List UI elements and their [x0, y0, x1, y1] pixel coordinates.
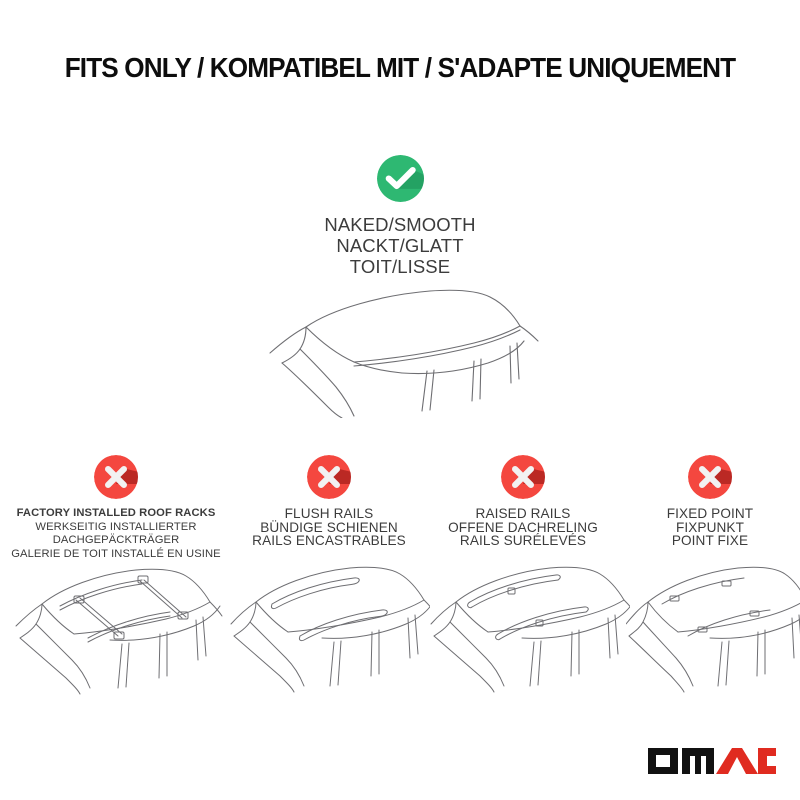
incompatible-item-factory-roof-racks: FACTORY INSTALLED ROOF RACKS WERKSEITIG … [0, 455, 232, 561]
incompatible-label-line-3: RAILS SURÉLEVÉS [426, 534, 620, 548]
logo-letter-a [716, 748, 758, 774]
compatible-label-line-1: NAKED/SMOOTH [0, 214, 800, 235]
incompatible-label: FIXED POINT FIXPUNKT POINT FIXE [620, 507, 800, 548]
incompatible-label-line-2: OFFENE DACHRELING [426, 521, 620, 535]
incompatible-label: FLUSH RAILS BÜNDIGE SCHIENEN RAILS ENCAS… [232, 507, 426, 548]
incompatible-label-line-3: DACHGEPÄCKTRÄGER [0, 534, 232, 548]
flush-rails-icon [230, 548, 430, 698]
red-x-circle-icon [688, 455, 732, 499]
naked-smooth-roof-icon [262, 283, 562, 418]
incompatible-item-raised-rails: RAISED RAILS OFFENE DACHRELING RAILS SUR… [426, 455, 620, 561]
incompatible-label-line-2: FIXPUNKT [620, 521, 800, 535]
compatible-label-line-3: TOIT/LISSE [0, 256, 800, 277]
factory-roof-rack-icon [14, 548, 224, 698]
incompatible-label-line-1: FACTORY INSTALLED ROOF RACKS [0, 507, 232, 521]
incompatible-item-fixed-point: FIXED POINT FIXPUNKT POINT FIXE [620, 455, 800, 561]
compatible-label: NAKED/SMOOTH NACKT/GLATT TOIT/LISSE [0, 214, 800, 277]
page-title: FITS ONLY / KOMPATIBEL MIT / S'ADAPTE UN… [20, 52, 780, 84]
logo-letter-c [758, 748, 776, 774]
incompatible-label-line-1: RAISED RAILS [426, 507, 620, 521]
incompatible-label: RAISED RAILS OFFENE DACHRELING RAILS SUR… [426, 507, 620, 548]
incompatible-label-line-1: FIXED POINT [620, 507, 800, 521]
logo-letter-o [648, 748, 678, 774]
green-check-circle-icon [377, 155, 424, 202]
incompatible-label-line-1: FLUSH RAILS [232, 507, 426, 521]
raised-rails-icon [430, 548, 630, 698]
logo-letter-m [682, 748, 714, 774]
incompatible-item-flush-rails: FLUSH RAILS BÜNDIGE SCHIENEN RAILS ENCAS… [232, 455, 426, 561]
compatible-section: NAKED/SMOOTH NACKT/GLATT TOIT/LISSE [0, 155, 800, 277]
incompatible-label-line-2: BÜNDIGE SCHIENEN [232, 521, 426, 535]
incompatible-illustrations [0, 548, 800, 698]
red-x-circle-icon [307, 455, 351, 499]
fixed-point-icon [626, 548, 800, 698]
incompatible-label-line-3: POINT FIXE [620, 534, 800, 548]
red-x-circle-icon [94, 455, 138, 499]
incompatible-label-line-3: RAILS ENCASTRABLES [232, 534, 426, 548]
omac-logo [646, 744, 778, 778]
incompatible-section: FACTORY INSTALLED ROOF RACKS WERKSEITIG … [0, 455, 800, 561]
red-x-circle-icon [501, 455, 545, 499]
compatible-label-line-2: NACKT/GLATT [0, 235, 800, 256]
incompatible-label-line-2: WERKSEITIG INSTALLIERTER [0, 521, 232, 535]
